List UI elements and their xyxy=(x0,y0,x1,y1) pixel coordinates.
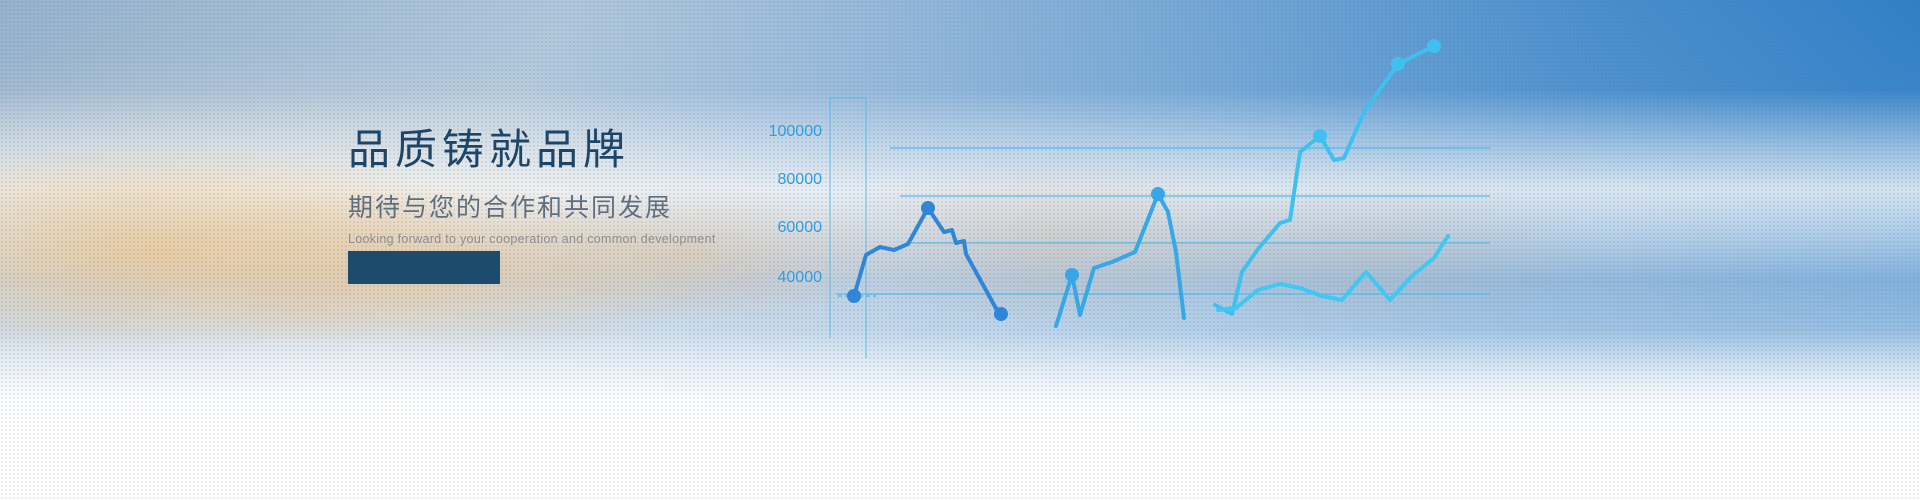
cta-button[interactable] xyxy=(348,251,500,284)
page-title: 品质铸就品牌 xyxy=(348,125,788,175)
headline-block: 品质铸就品牌 期待与您的合作和共同发展 Looking forward to y… xyxy=(348,125,788,247)
subtitle-english: Looking forward to your cooperation and … xyxy=(348,232,788,247)
subtitle: 期待与您的合作和共同发展 xyxy=(348,193,788,223)
hero-banner: 100000800006000040000 品质铸就品牌 期待与您的合作和共同发… xyxy=(0,0,1920,500)
halftone-dot-overlay xyxy=(0,0,1920,500)
